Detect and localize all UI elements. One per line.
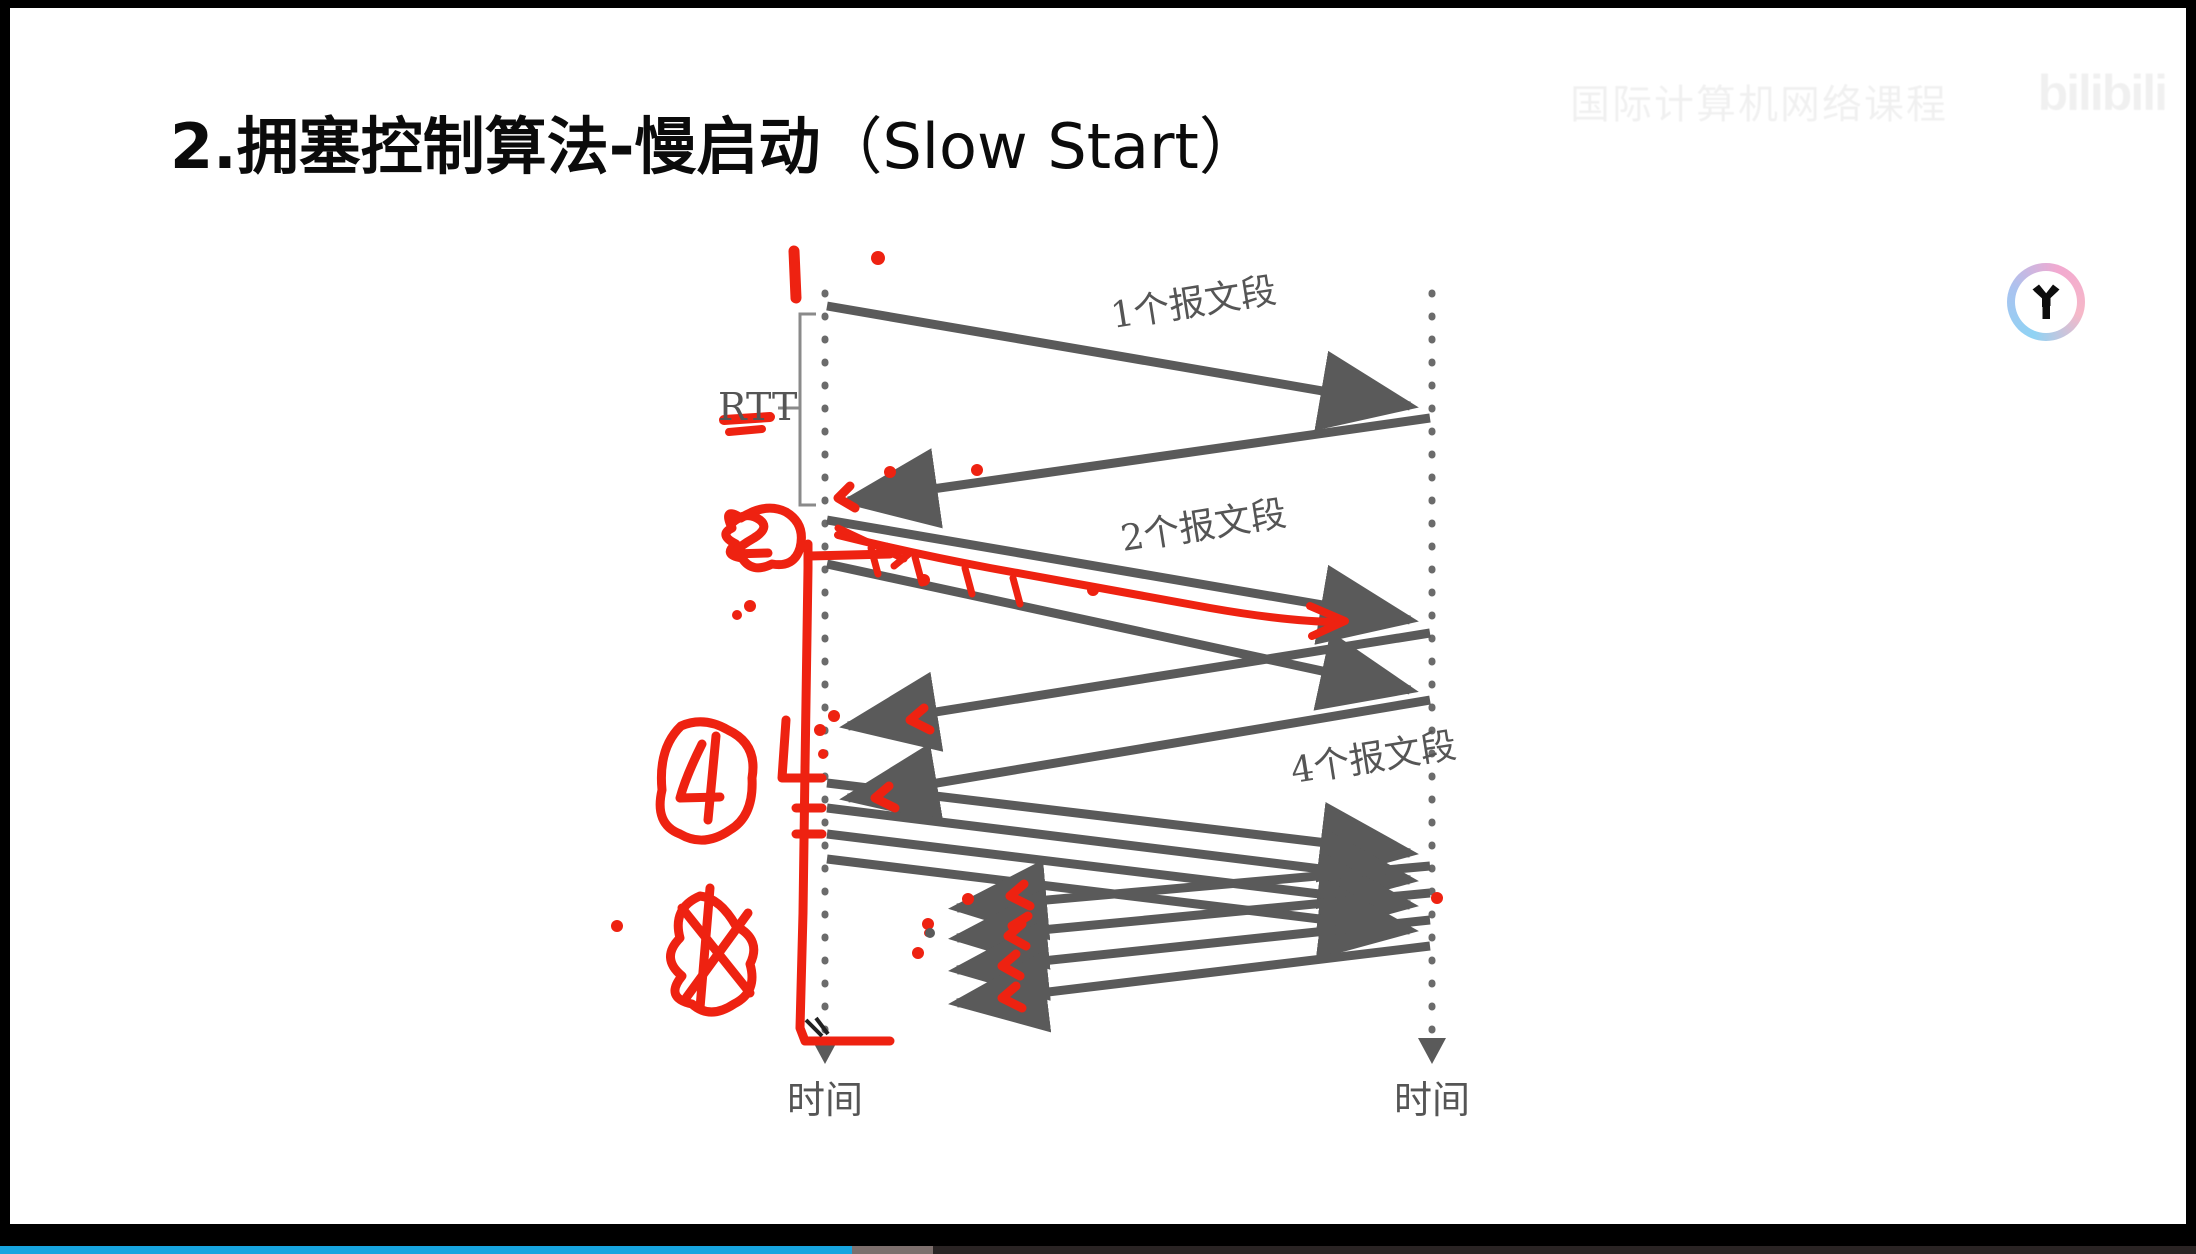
video-player-screen: 2.拥塞控制算法-慢启动（Slow Start） 国际计算机网络课程 bilib… (0, 0, 2196, 1254)
time-axis-left (811, 293, 839, 1064)
rtt-label: RTT (718, 385, 797, 429)
progress-played (0, 1246, 852, 1254)
round-label-2: 2个报文段 (1118, 493, 1289, 560)
slow-start-diagram: 1个报文段 2个报文段 4个报文段 RTT 时间 时间 (10, 8, 2186, 1224)
stray-dots (925, 928, 935, 938)
ack-arrows-round-1 (848, 418, 1430, 501)
segment-arrows-round-3 (827, 783, 1410, 930)
video-progress-bar[interactable] (0, 1240, 2196, 1254)
round-label-1: 1个报文段 (1108, 270, 1279, 337)
axis-label-right: 时间 (1394, 1078, 1470, 1122)
axis-label-left: 时间 (787, 1078, 863, 1122)
slide-canvas: 2.拥塞控制算法-慢启动（Slow Start） 国际计算机网络课程 bilib… (10, 8, 2186, 1224)
round-label-3: 4个报文段 (1288, 725, 1459, 792)
segment-arrows-round-2 (827, 520, 1410, 690)
